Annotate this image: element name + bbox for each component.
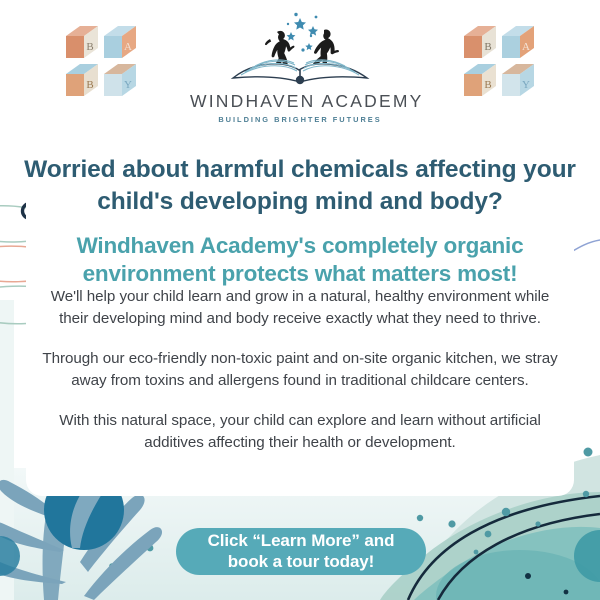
cta-line-2: book a tour today! [176,552,426,572]
logo-name: WINDHAVEN ACADEMY [190,91,410,112]
svg-text:A: A [522,41,530,53]
baby-blocks-icon: B A B Y [62,22,140,100]
svg-text:Y: Y [522,79,530,91]
brand-logo: WINDHAVEN ACADEMY BUILDING BRIGHTER FUTU… [190,12,410,124]
baby-blocks-icon: B A B Y [460,22,538,100]
svg-text:A: A [124,41,132,53]
cta-line-1: Click “Learn More” and [176,531,426,551]
body-paragraph: We'll help your child learn and grow in … [38,286,562,330]
learn-more-cta-button[interactable]: Click “Learn More” and book a tour today… [176,528,426,575]
children-on-open-book-with-stars-icon [225,12,375,90]
page-subheadline: Windhaven Academy's completely organic e… [52,232,548,289]
page-headline: Worried about harmful chemicals affectin… [24,154,576,217]
flyer-root: B A B Y [0,0,600,600]
svg-text:Y: Y [124,79,132,91]
circle-shape-icon [0,536,20,576]
svg-text:B: B [484,79,491,91]
body-paragraph: With this natural space, your child can … [38,410,562,454]
logo-tagline: BUILDING BRIGHTER FUTURES [190,115,410,124]
circle-shape-icon [574,530,600,582]
header: B A B Y [0,0,600,128]
body-copy: We'll help your child learn and grow in … [38,286,562,454]
arc-line-icon [408,496,600,600]
svg-text:B: B [86,41,93,53]
body-paragraph: Through our eco-friendly non-toxic paint… [38,348,562,392]
svg-text:B: B [484,41,491,53]
svg-text:B: B [86,79,93,91]
